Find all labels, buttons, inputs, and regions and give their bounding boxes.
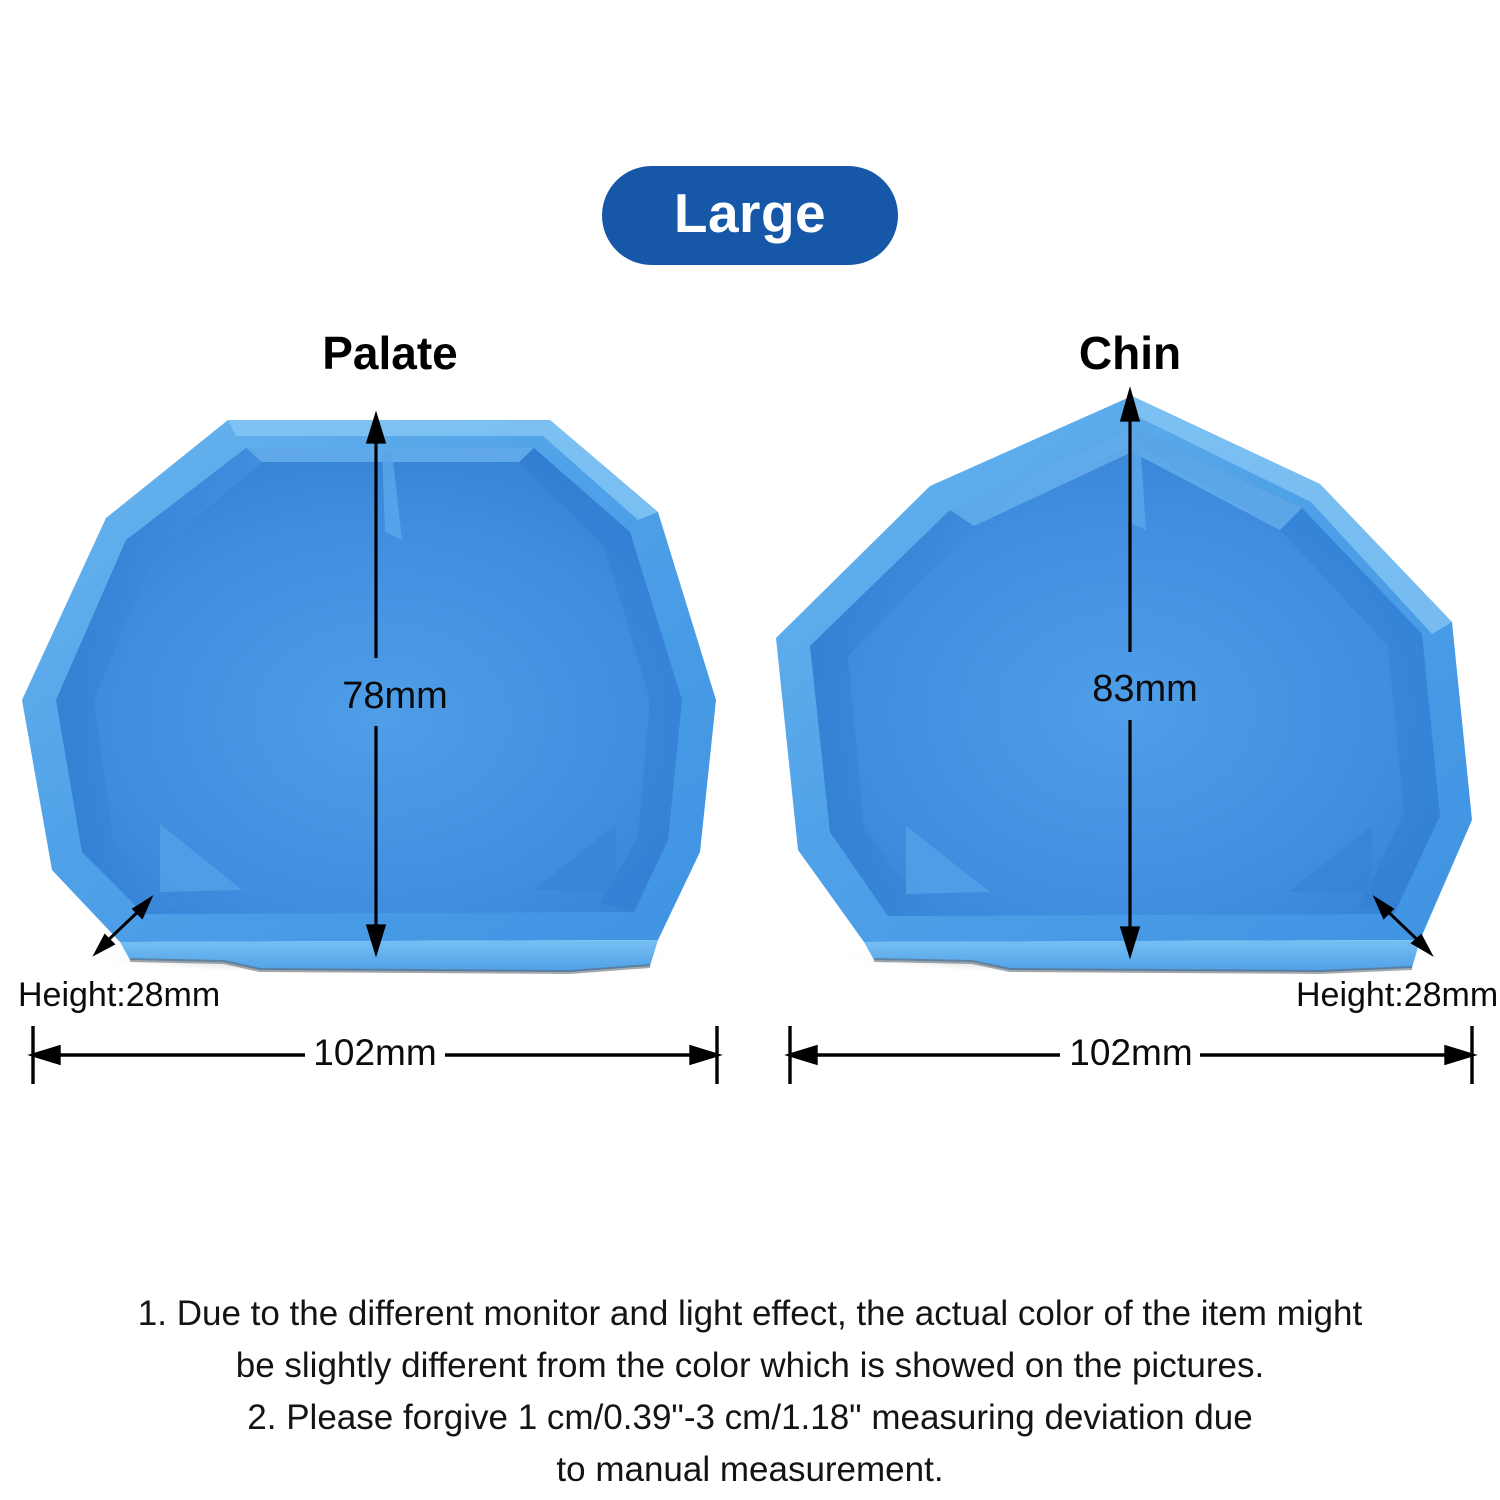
size-badge-container: Large (0, 166, 1500, 265)
dimension-row-chin-width: 102mm (782, 1022, 1480, 1088)
dimension-label-chin-height: 83mm (1020, 670, 1270, 708)
infographic-page: Large Palate Chin (0, 0, 1500, 1500)
dimension-label-palate-height: 78mm (270, 677, 520, 715)
note-line-3: 2. Please forgive 1 cm/0.39"-3 cm/1.18" … (60, 1392, 1440, 1444)
note-line-2: be slightly different from the color whi… (60, 1340, 1440, 1392)
product-title-chin: Chin (920, 330, 1340, 376)
note-line-1: 1. Due to the different monitor and ligh… (60, 1288, 1440, 1340)
dimension-row-palate-width: 102mm (25, 1022, 725, 1088)
footer-notes: 1. Due to the different monitor and ligh… (60, 1288, 1440, 1496)
note-line-4: to manual measurement. (60, 1444, 1440, 1496)
size-badge: Large (602, 166, 898, 265)
wall-height-label-chin: Height:28mm (1296, 978, 1498, 1012)
wall-height-label-palate: Height:28mm (18, 978, 220, 1012)
product-title-palate: Palate (180, 330, 600, 376)
